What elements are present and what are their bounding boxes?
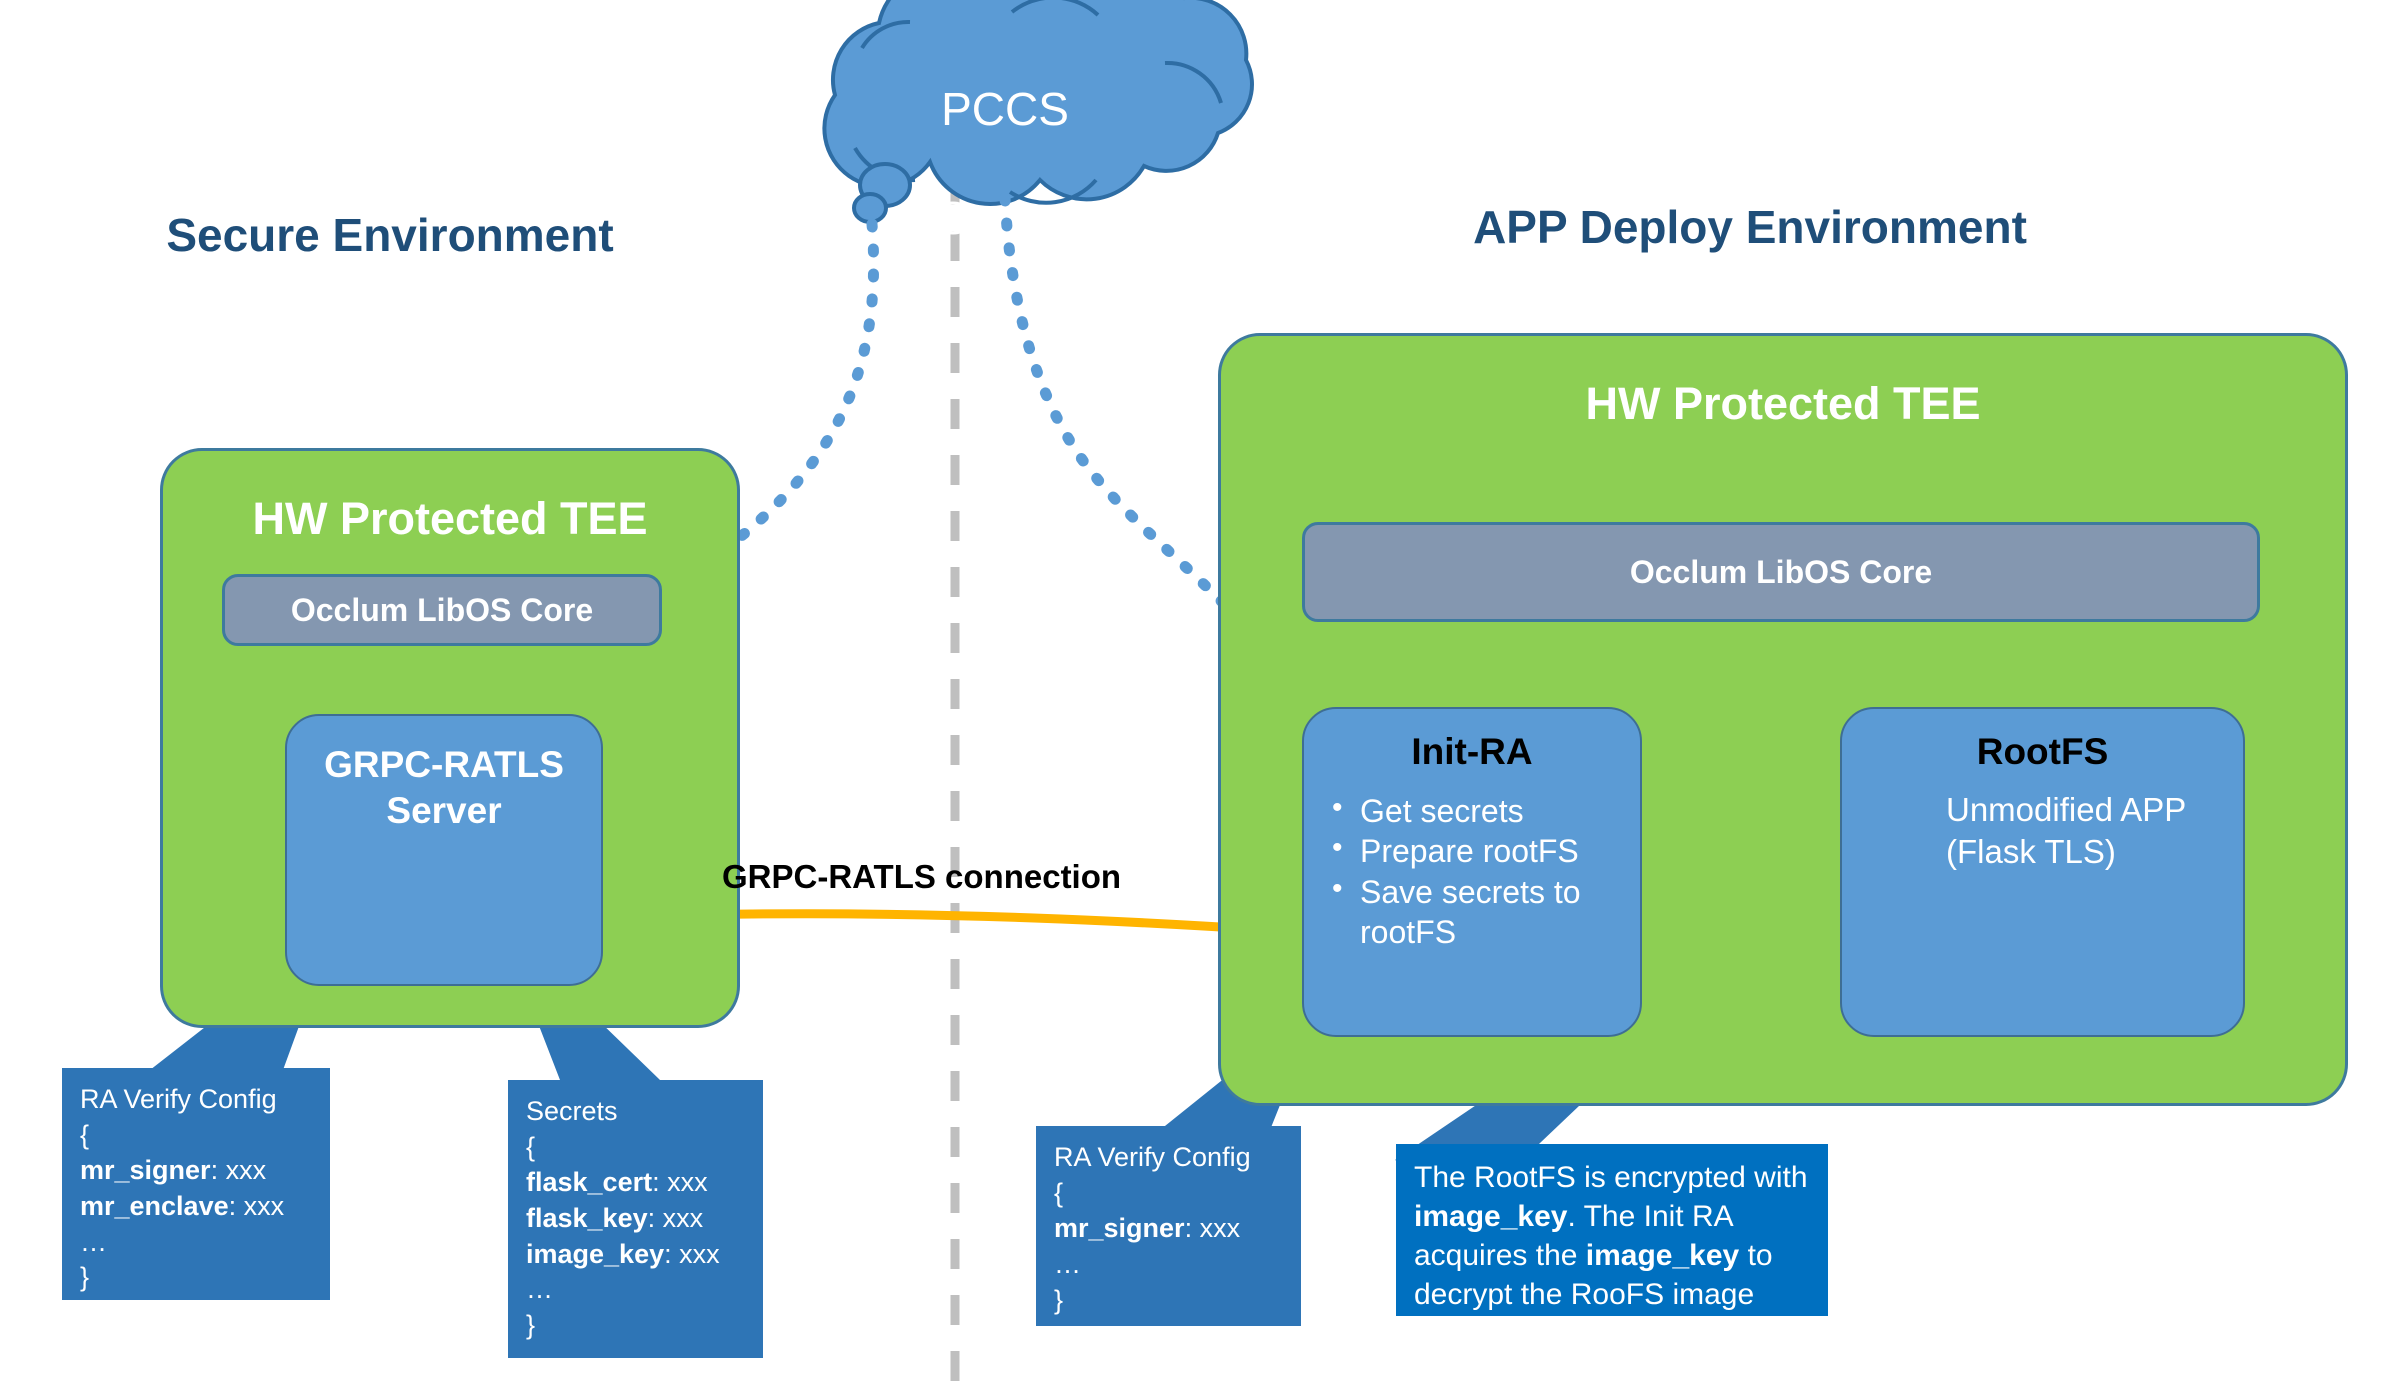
- callout-entry: flask_cert: xxx: [526, 1165, 747, 1201]
- callout-entry-value: : xxx: [229, 1191, 285, 1221]
- callout-right-ra-verify-config: RA Verify Config { mr_signer: xxx … }: [1036, 1126, 1301, 1326]
- callout-ellipsis: …: [1054, 1247, 1285, 1283]
- init-ra-title: Init-RA: [1304, 731, 1640, 773]
- callout-entry-key: mr_signer: [80, 1155, 211, 1185]
- init-ra-bullet-list: Get secrets Prepare rootFS Save secrets …: [1326, 791, 1626, 952]
- rootfs-body-line1: Unmodified APP: [1946, 789, 2246, 831]
- callout-entry-key: mr_enclave: [80, 1191, 229, 1221]
- list-item: Get secrets: [1326, 791, 1626, 831]
- pccs-cloud-label-line1: PCCS: [845, 82, 1165, 136]
- left-occlum-libos-core: Occlum LibOS Core: [222, 574, 662, 646]
- callout-entry: mr_signer: xxx: [80, 1153, 314, 1189]
- pccs-cloud-label-line2: Server: [845, 191, 1165, 245]
- grpc-ratls-connection-label: GRPC-RATLS connection: [722, 858, 1121, 896]
- callout-entry-value: : xxx: [652, 1167, 708, 1197]
- callout-open-brace: {: [80, 1118, 314, 1154]
- callout-entry: image_key: xxx: [526, 1237, 747, 1273]
- right-occlum-libos-core: Occlum LibOS Core: [1302, 522, 2260, 622]
- secure-environment-heading: Secure Environment: [100, 208, 680, 262]
- callout-title: RA Verify Config: [80, 1082, 314, 1118]
- callout-close-brace: }: [80, 1260, 314, 1296]
- callout-title: RA Verify Config: [1054, 1140, 1285, 1176]
- grpc-ratls-server-title-line1: GRPC-RATLS: [287, 744, 601, 786]
- diagram-canvas: PCCS Server Secure Environment HW Protec…: [0, 0, 2390, 1399]
- callout-entry-value: : xxx: [648, 1203, 704, 1233]
- list-item: Save secrets to rootFS: [1326, 872, 1626, 953]
- rootfs-body: Unmodified APP (Flask TLS): [1946, 789, 2246, 873]
- callout-close-brace: }: [526, 1308, 747, 1344]
- callout-note-bold2: image_key: [1586, 1239, 1739, 1272]
- callout-entry-value: : xxx: [664, 1239, 720, 1269]
- init-ra-box: Init-RA Get secrets Prepare rootFS Save …: [1302, 707, 1642, 1037]
- rootfs-box: RootFS Unmodified APP (Flask TLS): [1840, 707, 2245, 1037]
- callout-left-ra-verify-config: RA Verify Config { mr_signer: xxx mr_enc…: [62, 1068, 330, 1300]
- callout-rootfs-encryption-note: The RootFS is encrypted with image_key. …: [1396, 1144, 1828, 1316]
- pccs-cloud-label: PCCS Server: [845, 28, 1165, 299]
- callout-close-brace: }: [1054, 1283, 1285, 1319]
- callout-note-bold1: image_key: [1414, 1200, 1567, 1233]
- grpc-ratls-server-title-line2: Server: [287, 790, 601, 832]
- callout-entry: flask_key: xxx: [526, 1201, 747, 1237]
- list-item: Prepare rootFS: [1326, 831, 1626, 871]
- callout-entry: mr_signer: xxx: [1054, 1211, 1285, 1247]
- callout-title: Secrets: [526, 1094, 747, 1130]
- grpc-ratls-server-box: GRPC-RATLS Server: [285, 714, 603, 986]
- left-tee-label: HW Protected TEE: [163, 493, 737, 545]
- callout-open-brace: {: [526, 1130, 747, 1166]
- callout-open-brace: {: [1054, 1176, 1285, 1212]
- app-deploy-environment-heading: APP Deploy Environment: [1200, 200, 2300, 254]
- callout-note-seg1: The RootFS is encrypted with: [1414, 1161, 1808, 1194]
- right-tee-label: HW Protected TEE: [1221, 378, 2345, 430]
- callout-ellipsis: …: [80, 1225, 314, 1261]
- callout-entry-key: flask_cert: [526, 1167, 652, 1197]
- callout-secrets: Secrets { flask_cert: xxx flask_key: xxx…: [508, 1080, 763, 1358]
- rootfs-body-line2: (Flask TLS): [1946, 831, 2246, 873]
- right-occlum-libos-core-label: Occlum LibOS Core: [1630, 554, 1932, 591]
- rootfs-title: RootFS: [1842, 731, 2243, 773]
- callout-entry-key: image_key: [526, 1239, 664, 1269]
- callout-entry-value: : xxx: [211, 1155, 267, 1185]
- callout-entry: mr_enclave: xxx: [80, 1189, 314, 1225]
- callout-entry-key: mr_signer: [1054, 1213, 1185, 1243]
- left-occlum-libos-core-label: Occlum LibOS Core: [291, 592, 593, 629]
- callout-entry-key: flask_key: [526, 1203, 648, 1233]
- callout-ellipsis: …: [526, 1272, 747, 1308]
- callout-entry-value: : xxx: [1185, 1213, 1241, 1243]
